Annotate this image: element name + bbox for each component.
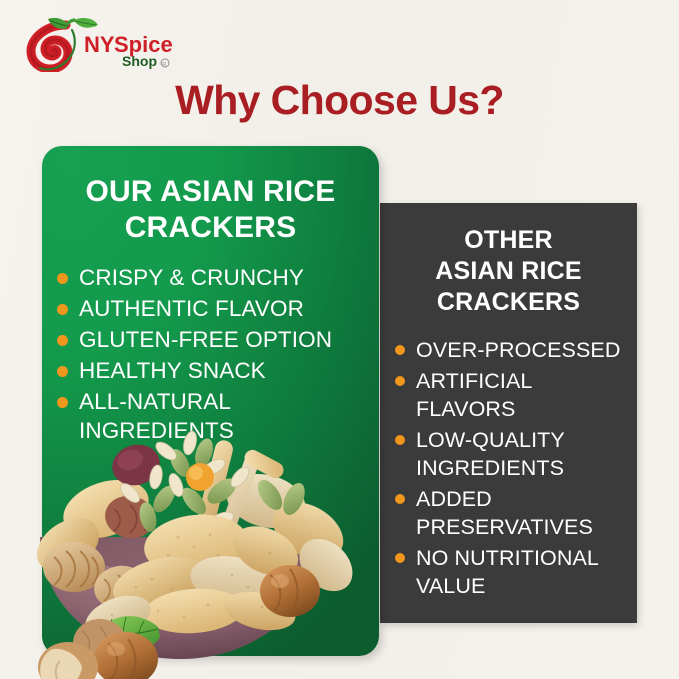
- bullet-dot-icon: [395, 553, 405, 563]
- our-card-heading: OUR ASIAN RICE CRACKERS: [60, 174, 361, 246]
- bullet-dot-icon: [395, 494, 405, 504]
- page-title: Why Choose Us?: [0, 76, 679, 124]
- list-item: ALL-NATURAL INGREDIENTS: [56, 387, 367, 445]
- list-item-label: ALL-NATURAL INGREDIENTS: [79, 389, 234, 443]
- list-item-label: CRISPY & CRUNCHY: [79, 265, 304, 290]
- chili-pepper-leaf-logo: NY Spice Shop R: [22, 16, 187, 72]
- list-item: HEALTHY SNACK: [56, 356, 367, 385]
- list-item-label: ARTIFICIAL FLAVORS: [416, 369, 532, 421]
- list-item: ADDED PRESERVATIVES: [394, 485, 627, 541]
- bullet-dot-icon: [395, 345, 405, 355]
- logo-word-shop: Shop: [122, 53, 157, 69]
- bullet-dot-icon: [57, 397, 68, 408]
- list-item: LOW-QUALITY INGREDIENTS: [394, 426, 627, 482]
- list-item-label: GLUTEN-FREE OPTION: [79, 327, 332, 352]
- list-item-label: OVER-PROCESSED: [416, 338, 621, 362]
- our-product-comparison-card: OUR ASIAN RICE CRACKERS CRISPY & CRUNCHY…: [42, 146, 379, 656]
- bullet-dot-icon: [57, 366, 68, 377]
- our-bullet-list: CRISPY & CRUNCHY AUTHENTIC FLAVOR GLUTEN…: [42, 263, 379, 445]
- bullet-dot-icon: [57, 273, 68, 284]
- bullet-dot-icon: [395, 435, 405, 445]
- logo-word-ny: NY: [84, 32, 115, 57]
- bullet-dot-icon: [57, 335, 68, 346]
- bullet-dot-icon: [57, 304, 68, 315]
- list-item: CRISPY & CRUNCHY: [56, 263, 367, 292]
- competitor-comparison-card: OTHER ASIAN RICE CRACKERS OVER-PROCESSED…: [380, 203, 637, 623]
- list-item-label: LOW-QUALITY INGREDIENTS: [416, 428, 564, 480]
- list-item: AUTHENTIC FLAVOR: [56, 294, 367, 323]
- list-item: OVER-PROCESSED: [394, 336, 627, 364]
- competitor-bullet-list: OVER-PROCESSED ARTIFICIAL FLAVORS LOW-QU…: [380, 336, 637, 600]
- competitor-heading-line-2: ASIAN RICE: [394, 256, 623, 287]
- list-item: GLUTEN-FREE OPTION: [56, 325, 367, 354]
- list-item-label: AUTHENTIC FLAVOR: [79, 296, 304, 321]
- infographic-canvas: NY Spice Shop R Why Choose Us? OTHER ASI…: [0, 0, 679, 679]
- list-item-label: NO NUTRITIONAL VALUE: [416, 546, 598, 598]
- list-item: ARTIFICIAL FLAVORS: [394, 367, 627, 423]
- brand-logo[interactable]: NY Spice Shop R: [22, 16, 187, 72]
- competitor-heading-line-1: OTHER: [394, 225, 623, 256]
- bullet-dot-icon: [395, 376, 405, 386]
- logo-registered-mark: R: [162, 62, 166, 68]
- competitor-heading-line-3: CRACKERS: [394, 287, 623, 318]
- list-item: NO NUTRITIONAL VALUE: [394, 544, 627, 600]
- list-item-label: ADDED PRESERVATIVES: [416, 487, 593, 539]
- list-item-label: HEALTHY SNACK: [79, 358, 266, 383]
- competitor-card-heading: OTHER ASIAN RICE CRACKERS: [394, 225, 623, 318]
